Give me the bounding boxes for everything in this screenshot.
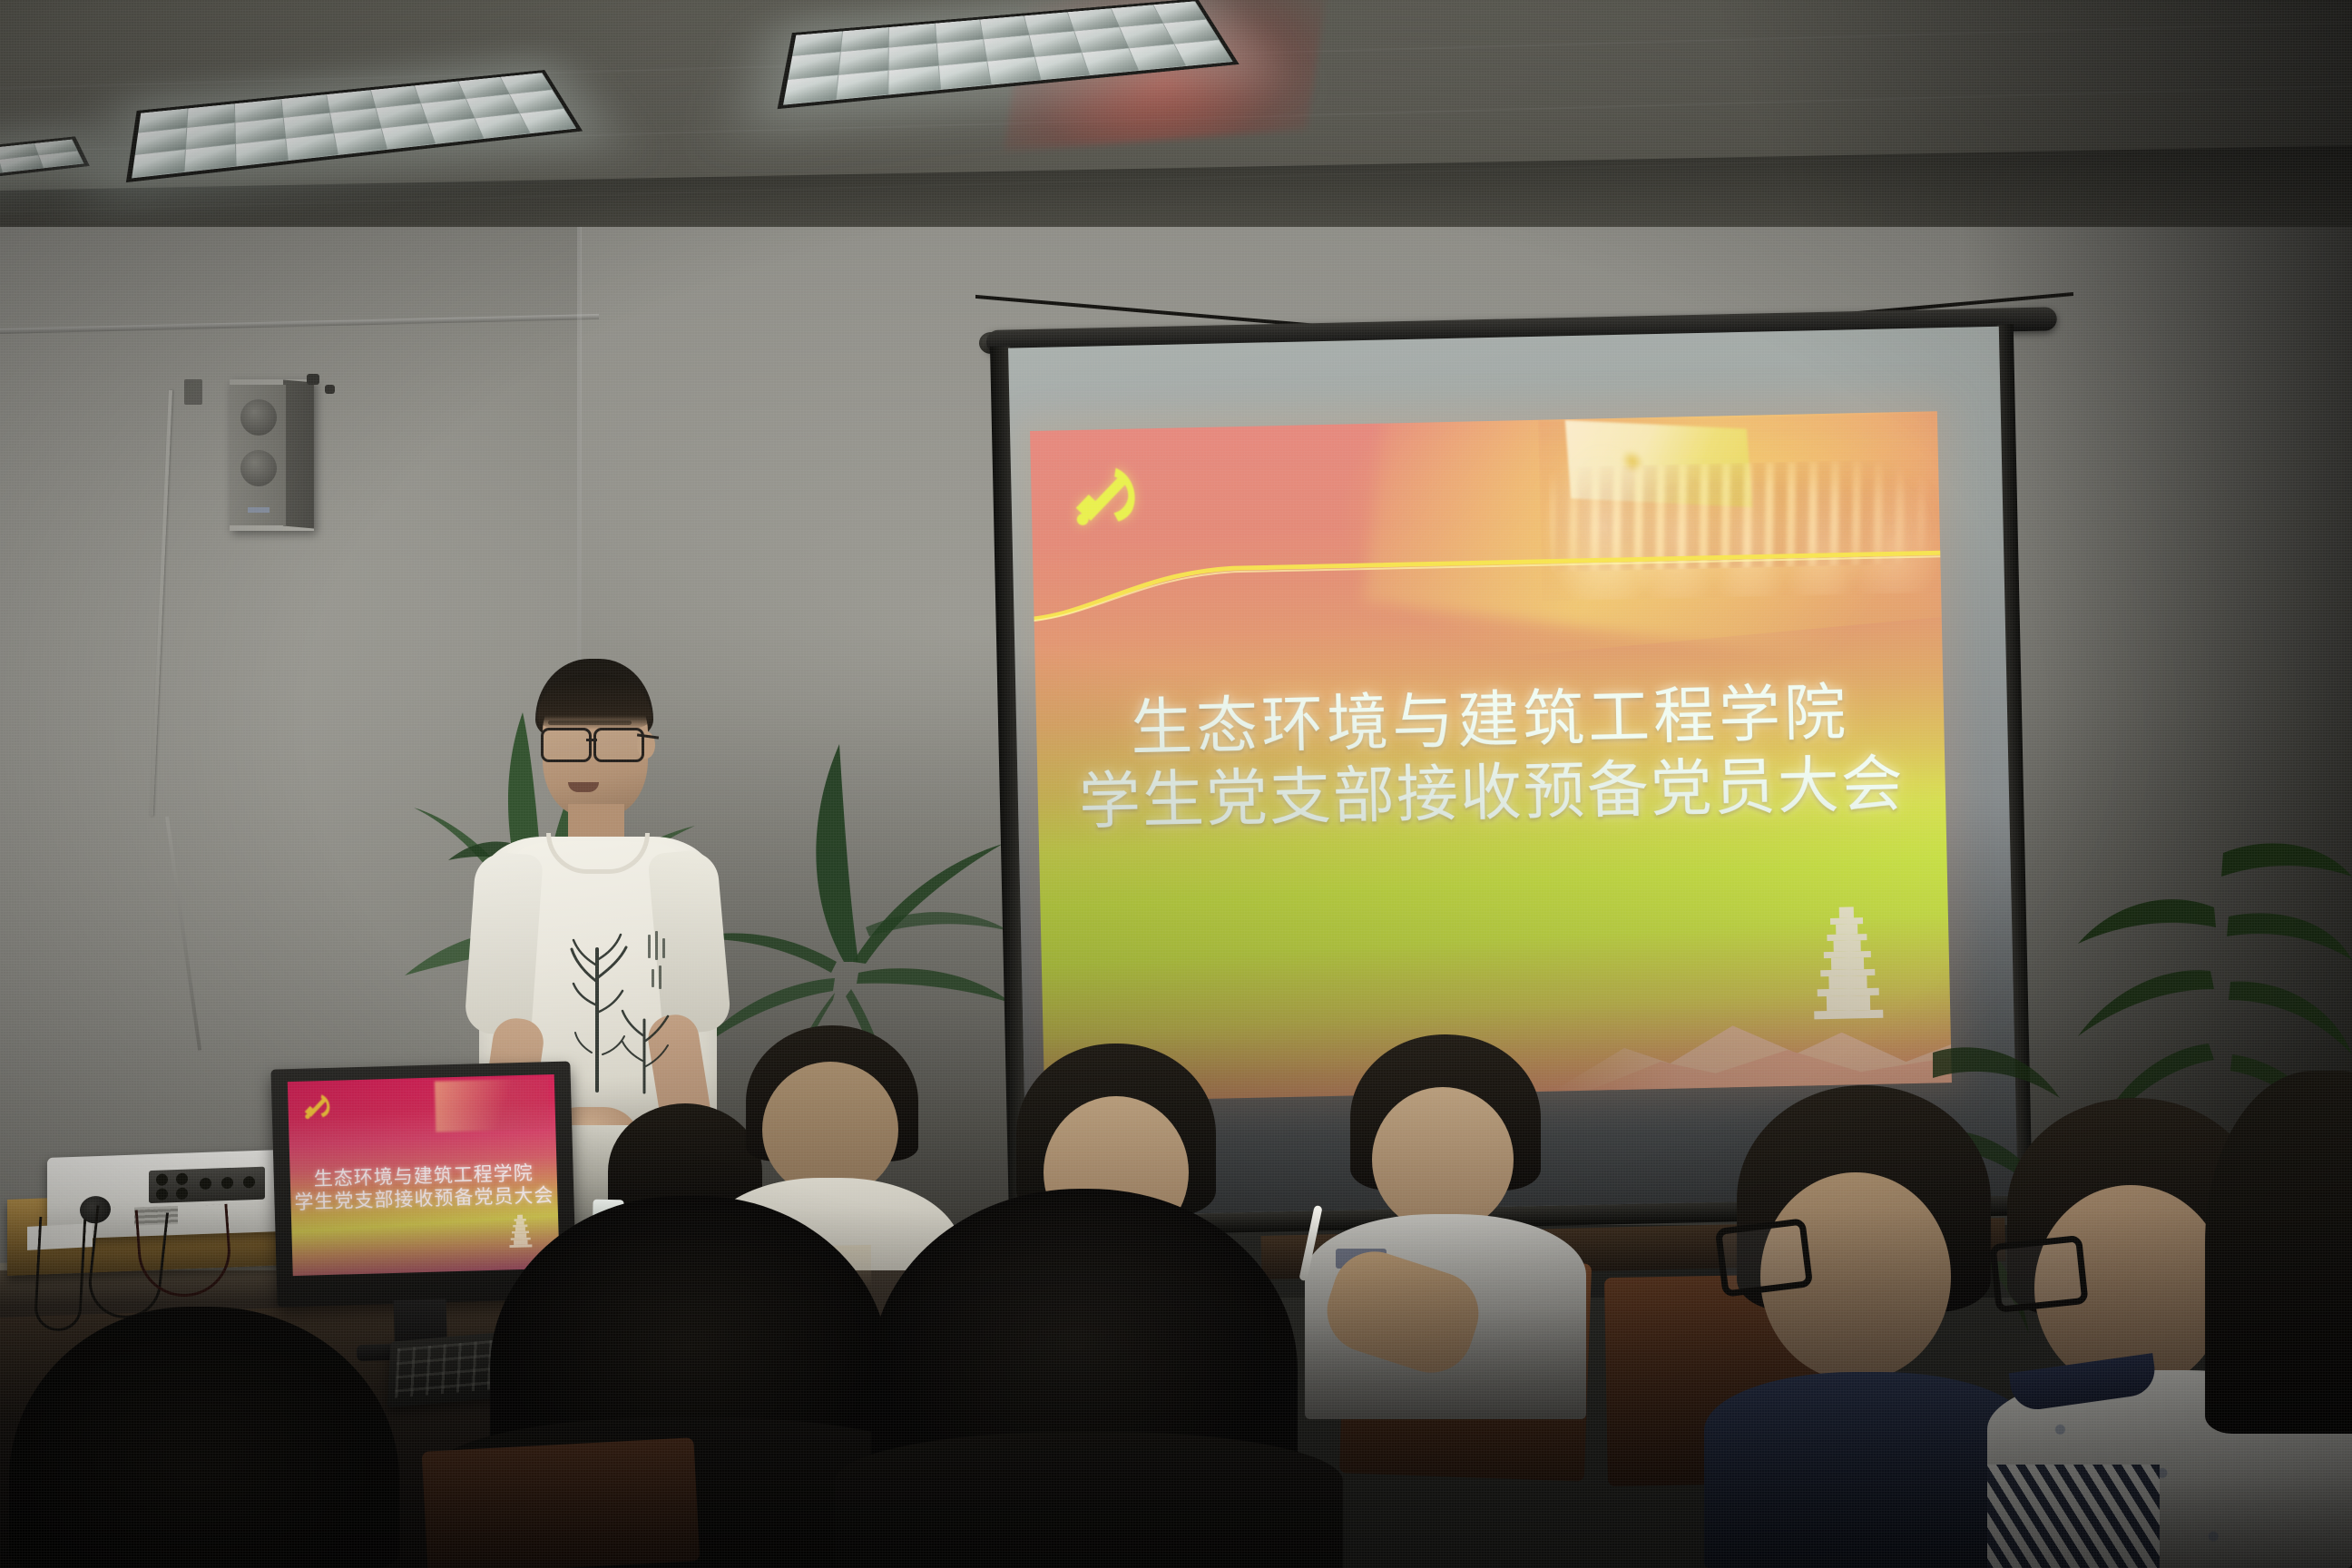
glasses <box>1715 1218 1814 1298</box>
hammer-and-sickle-emblem <box>1071 461 1145 530</box>
student-navy-tee-glasses <box>1704 1085 2031 1568</box>
glasses-lens-left <box>541 728 592 762</box>
tshirt-bamboo-print <box>561 918 677 1096</box>
torso <box>1704 1372 2031 1568</box>
photo-scene: 生态环境与建筑工程学院 学生党支部接收预备党员大会 <box>0 0 2352 1568</box>
head <box>1372 1087 1514 1232</box>
presenter-sleeve-left <box>464 851 544 1037</box>
presenter-glasses <box>537 728 652 759</box>
glasses-bridge <box>586 739 597 741</box>
torso <box>835 1432 1343 1568</box>
presenter-brow <box>548 720 632 725</box>
striped-sleeve <box>1987 1465 2160 1568</box>
student-foreground-left <box>9 1307 399 1568</box>
student-far-right <box>2205 1071 2352 1452</box>
hair <box>2205 1071 2352 1434</box>
student-foreground-right <box>835 1189 1343 1568</box>
student-grey-tee-right <box>1305 1034 1586 1416</box>
projector-port-panel <box>149 1167 265 1203</box>
hair <box>9 1307 399 1568</box>
slide-title: 生态环境与建筑工程学院 学生党支部接收预备党员大会 <box>1035 674 1945 839</box>
glasses <box>1989 1235 2088 1313</box>
wooden-chair-1 <box>422 1437 701 1568</box>
monument-relief-graphic <box>435 1078 551 1132</box>
hammer-and-sickle-icon <box>302 1092 334 1122</box>
